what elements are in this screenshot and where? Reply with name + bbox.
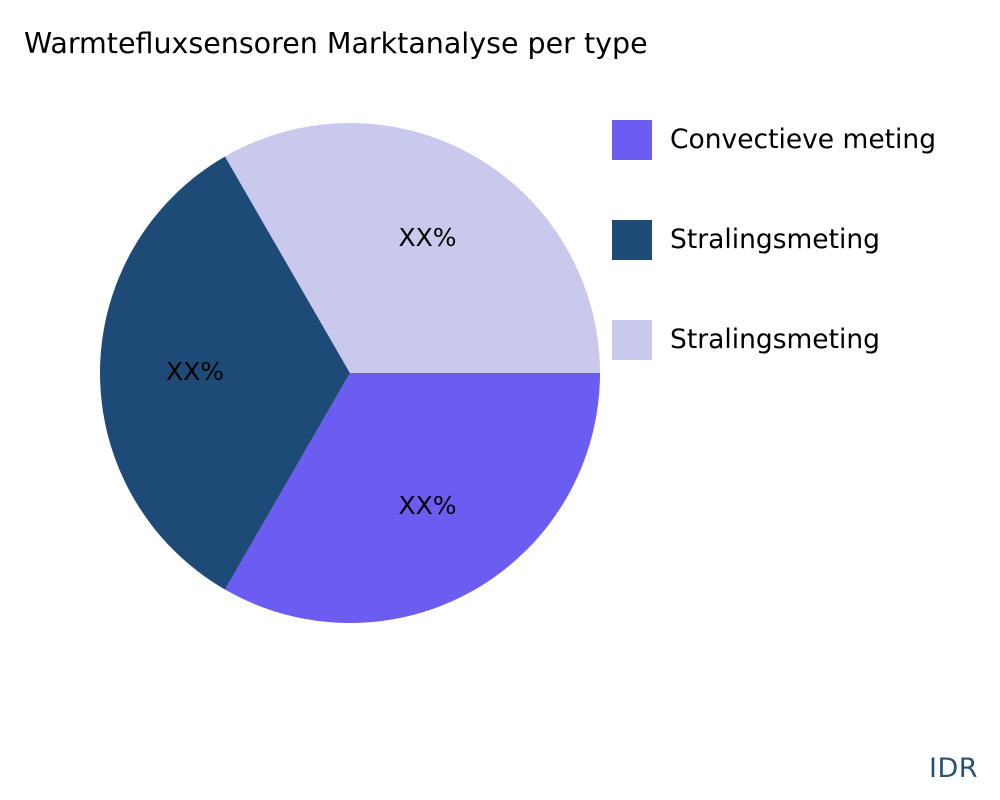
legend-item-0[interactable]: Convectieve meting bbox=[612, 118, 1000, 218]
legend: Convectieve meting Stralingsmeting Stral… bbox=[612, 118, 1000, 418]
pie-slice-percent-label: XX% bbox=[398, 491, 456, 520]
pie-slice-percent-label: XX% bbox=[398, 223, 456, 252]
pie-slice-percent-label: XX% bbox=[166, 357, 224, 386]
legend-label-0: Convectieve meting bbox=[670, 118, 936, 162]
legend-label-2: Stralingsmeting bbox=[670, 318, 880, 362]
legend-label-1: Stralingsmeting bbox=[670, 218, 880, 262]
legend-swatch-icon-1 bbox=[612, 220, 652, 260]
legend-item-1[interactable]: Stralingsmeting bbox=[612, 218, 1000, 318]
legend-item-2[interactable]: Stralingsmeting bbox=[612, 318, 1000, 418]
pie-plot-area: XX%XX%XX% bbox=[100, 123, 600, 623]
page-title: Warmtefluxsensoren Marktanalyse per type bbox=[24, 24, 648, 64]
legend-swatch-icon-2 bbox=[612, 320, 652, 360]
pie-svg: XX%XX%XX% bbox=[100, 123, 600, 623]
legend-swatch-icon-0 bbox=[612, 120, 652, 160]
watermark-idr: IDR bbox=[929, 753, 978, 784]
pie-chart-figure: Warmtefluxsensoren Marktanalyse per type… bbox=[0, 0, 1000, 800]
